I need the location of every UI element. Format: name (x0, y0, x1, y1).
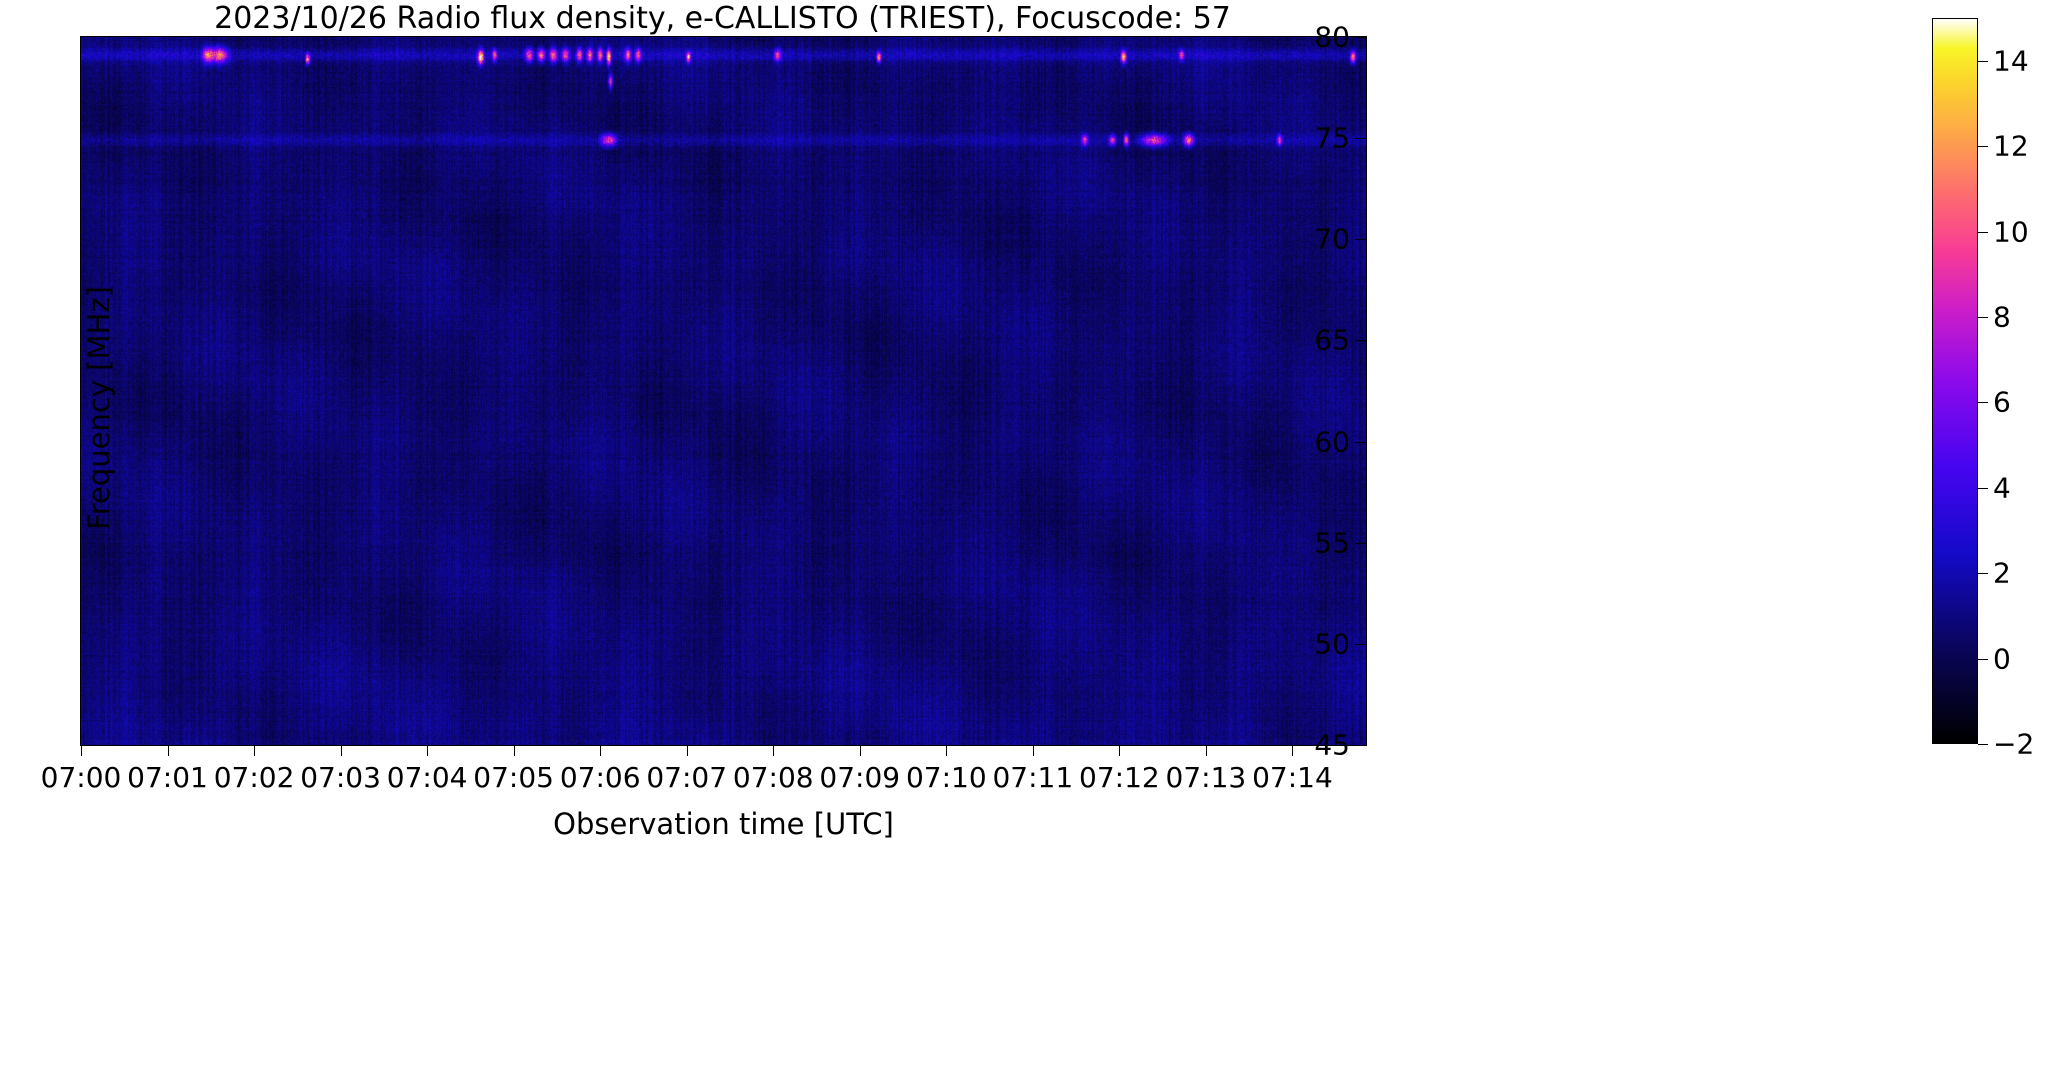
x-tick-label: 07:14 (1252, 761, 1333, 794)
spectrogram-image[interactable] (81, 37, 1366, 745)
page-title: 2023/10/26 Radio flux density, e-CALLIST… (80, 2, 1365, 36)
colorbar-tick-label: 2 (1993, 557, 2011, 590)
x-tick-mark (168, 745, 169, 756)
colorbar-gradient (1932, 18, 1978, 744)
y-tick-label: 50 (1314, 627, 1350, 660)
colorbar-tick-mark (1978, 317, 1988, 318)
x-tick-mark (427, 745, 428, 756)
y-tick-mark (1355, 644, 1366, 645)
x-tick-label: 07:06 (560, 761, 641, 794)
colorbar-tick-label: 14 (1993, 44, 2029, 77)
y-tick-label: 60 (1314, 425, 1350, 458)
colorbar-tick-mark (1978, 146, 1988, 147)
x-tick-mark (600, 745, 601, 756)
x-tick-mark (1292, 745, 1293, 756)
x-tick-label: 07:13 (1166, 761, 1247, 794)
y-axis-label: Frequency [MHz] (82, 128, 116, 688)
colorbar-tick-mark (1978, 573, 1988, 574)
colorbar-tick-mark (1978, 402, 1988, 403)
x-tick-label: 07:02 (214, 761, 295, 794)
x-tick-label: 07:11 (992, 761, 1073, 794)
x-tick-mark (81, 745, 82, 756)
x-tick-label: 07:10 (906, 761, 987, 794)
colorbar-tick-label: 10 (1993, 215, 2029, 248)
spectrogram-axes[interactable]: Frequency [MHz] 8075706560555045 Observa… (80, 36, 1367, 746)
x-tick-mark (1119, 745, 1120, 756)
x-tick-mark (946, 745, 947, 756)
x-tick-mark (1033, 745, 1034, 756)
y-tick-mark (1355, 340, 1366, 341)
colorbar-tick-label: 0 (1993, 642, 2011, 675)
y-tick-mark (1355, 37, 1366, 38)
y-tick-label: 70 (1314, 223, 1350, 256)
x-tick-label: 07:01 (127, 761, 208, 794)
y-tick-label: 45 (1314, 729, 1350, 762)
spectrogram-figure: 2023/10/26 Radio flux density, e-CALLIST… (0, 0, 2047, 1067)
y-tick-mark (1355, 745, 1366, 746)
y-tick-label: 55 (1314, 526, 1350, 559)
x-tick-mark (341, 745, 342, 756)
x-tick-label: 07:08 (733, 761, 814, 794)
x-tick-label: 07:04 (387, 761, 468, 794)
y-tick-mark (1355, 138, 1366, 139)
y-tick-mark (1355, 442, 1366, 443)
y-tick-label: 65 (1314, 324, 1350, 357)
colorbar-tick-label: −2 (1993, 728, 2034, 761)
colorbar-tick-mark (1978, 61, 1988, 62)
y-tick-mark (1355, 239, 1366, 240)
x-tick-label: 07:05 (473, 761, 554, 794)
x-tick-label: 07:09 (819, 761, 900, 794)
colorbar-tick-label: 4 (1993, 471, 2011, 504)
x-tick-mark (860, 745, 861, 756)
colorbar-tick-mark (1978, 232, 1988, 233)
colorbar-tick-mark (1978, 488, 1988, 489)
colorbar-tick-mark (1978, 659, 1988, 660)
colorbar-tick-mark (1978, 744, 1988, 745)
y-tick-label: 80 (1314, 21, 1350, 54)
x-tick-label: 07:00 (41, 761, 122, 794)
x-tick-label: 07:07 (646, 761, 727, 794)
y-tick-label: 75 (1314, 122, 1350, 155)
x-tick-mark (1206, 745, 1207, 756)
x-tick-mark (773, 745, 774, 756)
x-axis-label: Observation time [UTC] (81, 807, 1366, 841)
x-tick-label: 07:03 (300, 761, 381, 794)
colorbar-tick-label: 12 (1993, 130, 2029, 163)
x-tick-label: 07:12 (1079, 761, 1160, 794)
x-tick-mark (687, 745, 688, 756)
y-tick-mark (1355, 543, 1366, 544)
x-tick-mark (254, 745, 255, 756)
colorbar[interactable]: 14121086420−2 (1932, 18, 1978, 744)
x-tick-mark (514, 745, 515, 756)
colorbar-tick-label: 8 (1993, 300, 2011, 333)
colorbar-tick-label: 6 (1993, 386, 2011, 419)
